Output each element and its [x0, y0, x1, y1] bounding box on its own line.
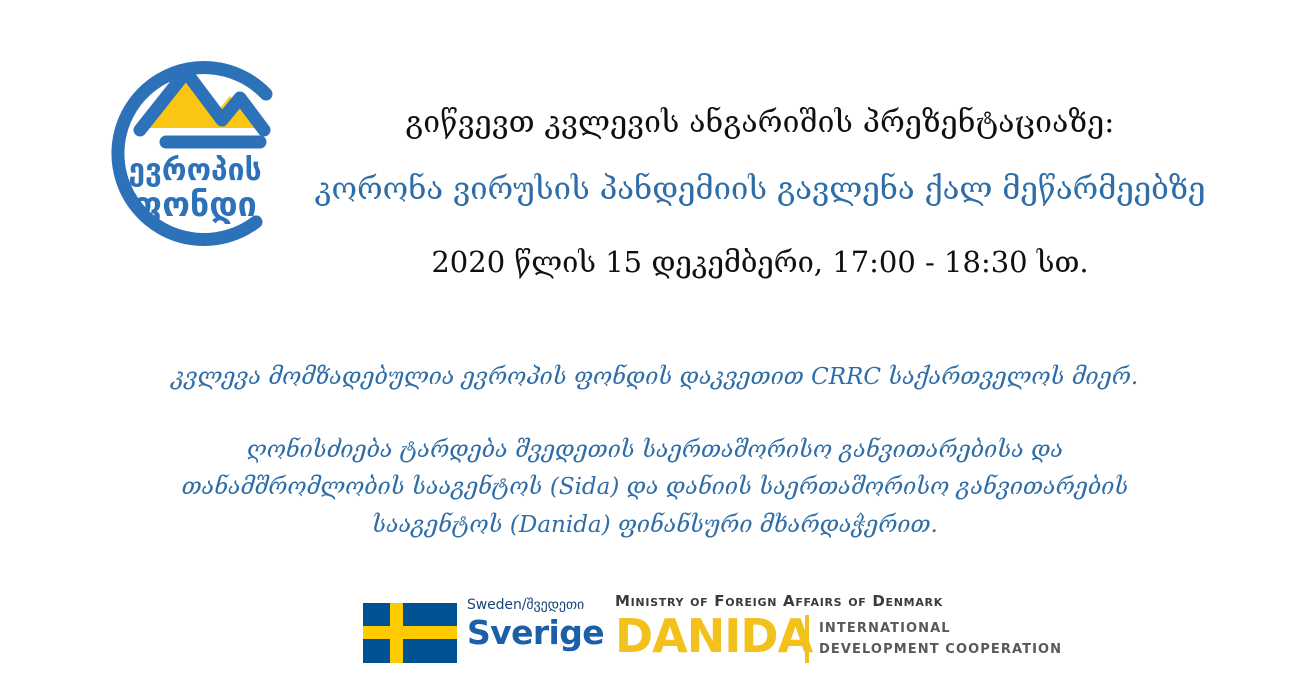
invitation-poster: ევროპის ფონდი გიწვევთ კვლევის ანგარიშის …: [0, 0, 1300, 700]
funding-note-line-3: სააგენტოს (Danida) ფინანსური მხარდაჭერით…: [130, 507, 1180, 544]
danida-wordmark: DANIDA: [615, 613, 812, 659]
logo-mountain-base: [148, 118, 256, 128]
logo-word-line2: ფონდი: [133, 185, 257, 225]
swedish-flag-icon: [363, 603, 457, 663]
sweden-wordmark: Sweden/შვედეთი Sverige: [467, 598, 587, 651]
danida-subtitle-line-1: INTERNATIONAL: [819, 618, 1062, 639]
invitation-line: გიწვევთ კვლევის ანგარიშის პრეზენტაციაზე:: [310, 104, 1210, 142]
sweden-sida-logo: Sweden/შვედეთი Sverige: [363, 594, 583, 674]
flag-cross-vertical: [390, 603, 403, 663]
credit-area: კვლევა მომზადებულია ევროპის ფონდის დაკვე…: [130, 360, 1180, 395]
funding-note: ღონისძიება ტარდება შვედეთის საერთაშორისო…: [130, 432, 1180, 544]
flag-cross-horizontal: [363, 626, 457, 639]
heading-area: გიწვევთ კვლევის ანგარიშის პრეზენტაციაზე:…: [310, 104, 1210, 281]
research-title: კორონა ვირუსის პანდემიის გავლენა ქალ მეწ…: [310, 170, 1210, 209]
danida-subtitle-line-2: DEVELOPMENT COOPERATION: [819, 639, 1062, 660]
europe-foundation-logo: ევროპის ფონდი: [88, 34, 303, 249]
donor-logo-row: Sweden/შვედეთი Sverige Ministry of Forei…: [363, 592, 1063, 677]
danida-logo: Ministry of Foreign Affairs of Denmark D…: [615, 592, 1045, 674]
funding-note-line-2: თანამშრომლობის სააგენტოს (Sida) და დანიი…: [130, 469, 1180, 506]
europe-foundation-logo-graphic: ევროპის ფონდი: [88, 34, 303, 249]
sverige-text: Sverige: [467, 616, 587, 651]
event-datetime: 2020 წლის 15 დეკემბერი, 17:00 - 18:30 სთ…: [310, 244, 1210, 280]
logo-word-line1: ევროპის: [128, 153, 261, 188]
funding-note-line-1: ღონისძიება ტარდება შვედეთის საერთაშორისო…: [130, 432, 1180, 469]
danida-wordmark-row: DANIDA INTERNATIONAL DEVELOPMENT COOPERA…: [615, 615, 1045, 667]
danida-subtitle: INTERNATIONAL DEVELOPMENT COOPERATION: [819, 618, 1062, 661]
danida-divider: [805, 615, 809, 663]
research-credit-line: კვლევა მომზადებულია ევროპის ფონდის დაკვე…: [130, 360, 1180, 395]
denmark-ministry-text: Ministry of Foreign Affairs of Denmark: [615, 592, 1045, 610]
sweden-small-text: Sweden/შვედეთი: [467, 598, 587, 613]
